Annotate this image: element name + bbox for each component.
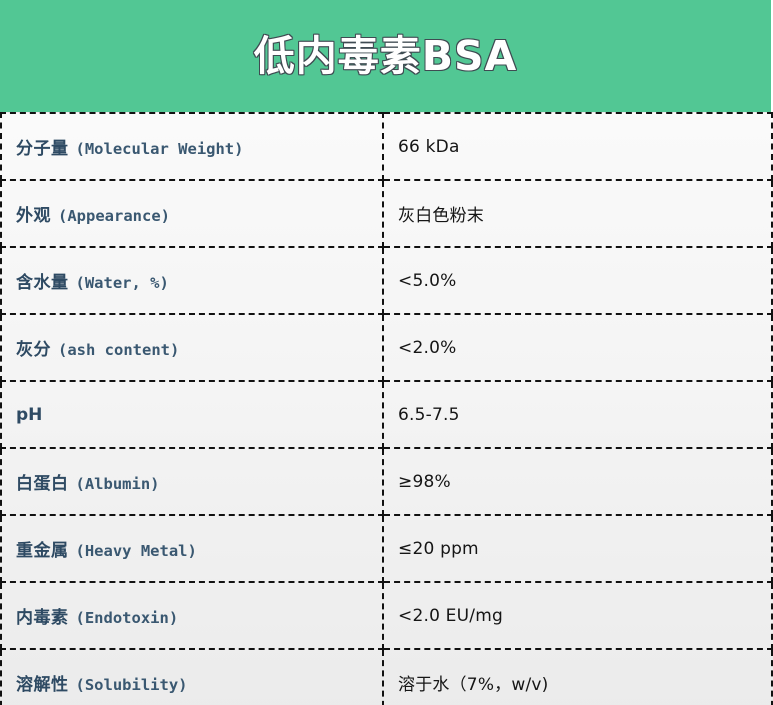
spec-value: ≤20 ppm — [398, 539, 479, 559]
spec-table-body: 分子量(Molecular Weight) 66 kDa 外观(Appearan… — [1, 113, 772, 705]
spec-value-cell: <5.0% — [383, 247, 772, 314]
table-row: 溶解性(Solubility) 溶于水（7%，w/v) — [1, 649, 772, 705]
spec-label-en: (Molecular Weight) — [76, 140, 244, 158]
spec-label-en: (Heavy Metal) — [76, 542, 197, 560]
table-row: 分子量(Molecular Weight) 66 kDa — [1, 113, 772, 180]
spec-label-cn: 外观 — [16, 206, 51, 226]
table-row: pH 6.5-7.5 — [1, 381, 772, 448]
spec-value-cell: 6.5-7.5 — [383, 381, 772, 448]
table-row: 重金属(Heavy Metal) ≤20 ppm — [1, 515, 772, 582]
spec-value: 溶于水（7%，w/v) — [398, 675, 549, 695]
page-title: 低内毒素BSA — [254, 36, 518, 77]
spec-value: 灰白色粉末 — [398, 206, 484, 226]
spec-value: <2.0 EU/mg — [398, 606, 503, 626]
spec-value: <2.0% — [398, 338, 456, 358]
spec-label-en: (Albumin) — [76, 475, 160, 493]
table-row: 外观(Appearance) 灰白色粉末 — [1, 180, 772, 247]
table-row: 含水量(Water, %) <5.0% — [1, 247, 772, 314]
spec-value: 6.5-7.5 — [398, 405, 460, 425]
table-row: 内毒素(Endotoxin) <2.0 EU/mg — [1, 582, 772, 649]
spec-label-en: (ash content) — [58, 341, 179, 359]
spec-value-cell: <2.0 EU/mg — [383, 582, 772, 649]
spec-value-cell: ≤20 ppm — [383, 515, 772, 582]
spec-value: <5.0% — [398, 271, 456, 291]
spec-label-cn: 分子量 — [16, 139, 69, 159]
spec-label-cell: pH — [1, 381, 383, 448]
spec-label-cn: 含水量 — [16, 273, 69, 293]
spec-label-cn: 灰分 — [16, 340, 51, 360]
spec-label-cn: 内毒素 — [16, 608, 69, 628]
table-row: 灰分(ash content) <2.0% — [1, 314, 772, 381]
spec-label-cell: 白蛋白(Albumin) — [1, 448, 383, 515]
specification-table: 分子量(Molecular Weight) 66 kDa 外观(Appearan… — [0, 112, 773, 705]
spec-label-cell: 溶解性(Solubility) — [1, 649, 383, 705]
spec-label-cn: 溶解性 — [16, 675, 69, 695]
spec-label-cell: 内毒素(Endotoxin) — [1, 582, 383, 649]
spec-label-cn: 白蛋白 — [16, 474, 69, 494]
spec-label-cell: 灰分(ash content) — [1, 314, 383, 381]
spec-label-en: (Endotoxin) — [76, 609, 179, 627]
spec-value: 66 kDa — [398, 137, 460, 157]
spec-label-en: (Appearance) — [58, 207, 170, 225]
spec-value-cell: <2.0% — [383, 314, 772, 381]
spec-label-cn: 重金属 — [16, 541, 69, 561]
spec-value-cell: 66 kDa — [383, 113, 772, 180]
spec-label-cell: 外观(Appearance) — [1, 180, 383, 247]
spec-label-cell: 分子量(Molecular Weight) — [1, 113, 383, 180]
spec-label-cell: 重金属(Heavy Metal) — [1, 515, 383, 582]
product-spec-card: 低内毒素BSA 分子量(Molecular Weight) 66 kDa 外观(… — [0, 0, 773, 705]
spec-label-en: (Water, %) — [76, 274, 169, 292]
spec-value-cell: 溶于水（7%，w/v) — [383, 649, 772, 705]
spec-value-cell: ≥98% — [383, 448, 772, 515]
header-banner: 低内毒素BSA — [0, 0, 771, 112]
spec-value: ≥98% — [398, 472, 451, 492]
spec-label-cn: pH — [16, 405, 42, 425]
spec-value-cell: 灰白色粉末 — [383, 180, 772, 247]
spec-label-cell: 含水量(Water, %) — [1, 247, 383, 314]
spec-label-en: (Solubility) — [76, 676, 188, 694]
table-row: 白蛋白(Albumin) ≥98% — [1, 448, 772, 515]
